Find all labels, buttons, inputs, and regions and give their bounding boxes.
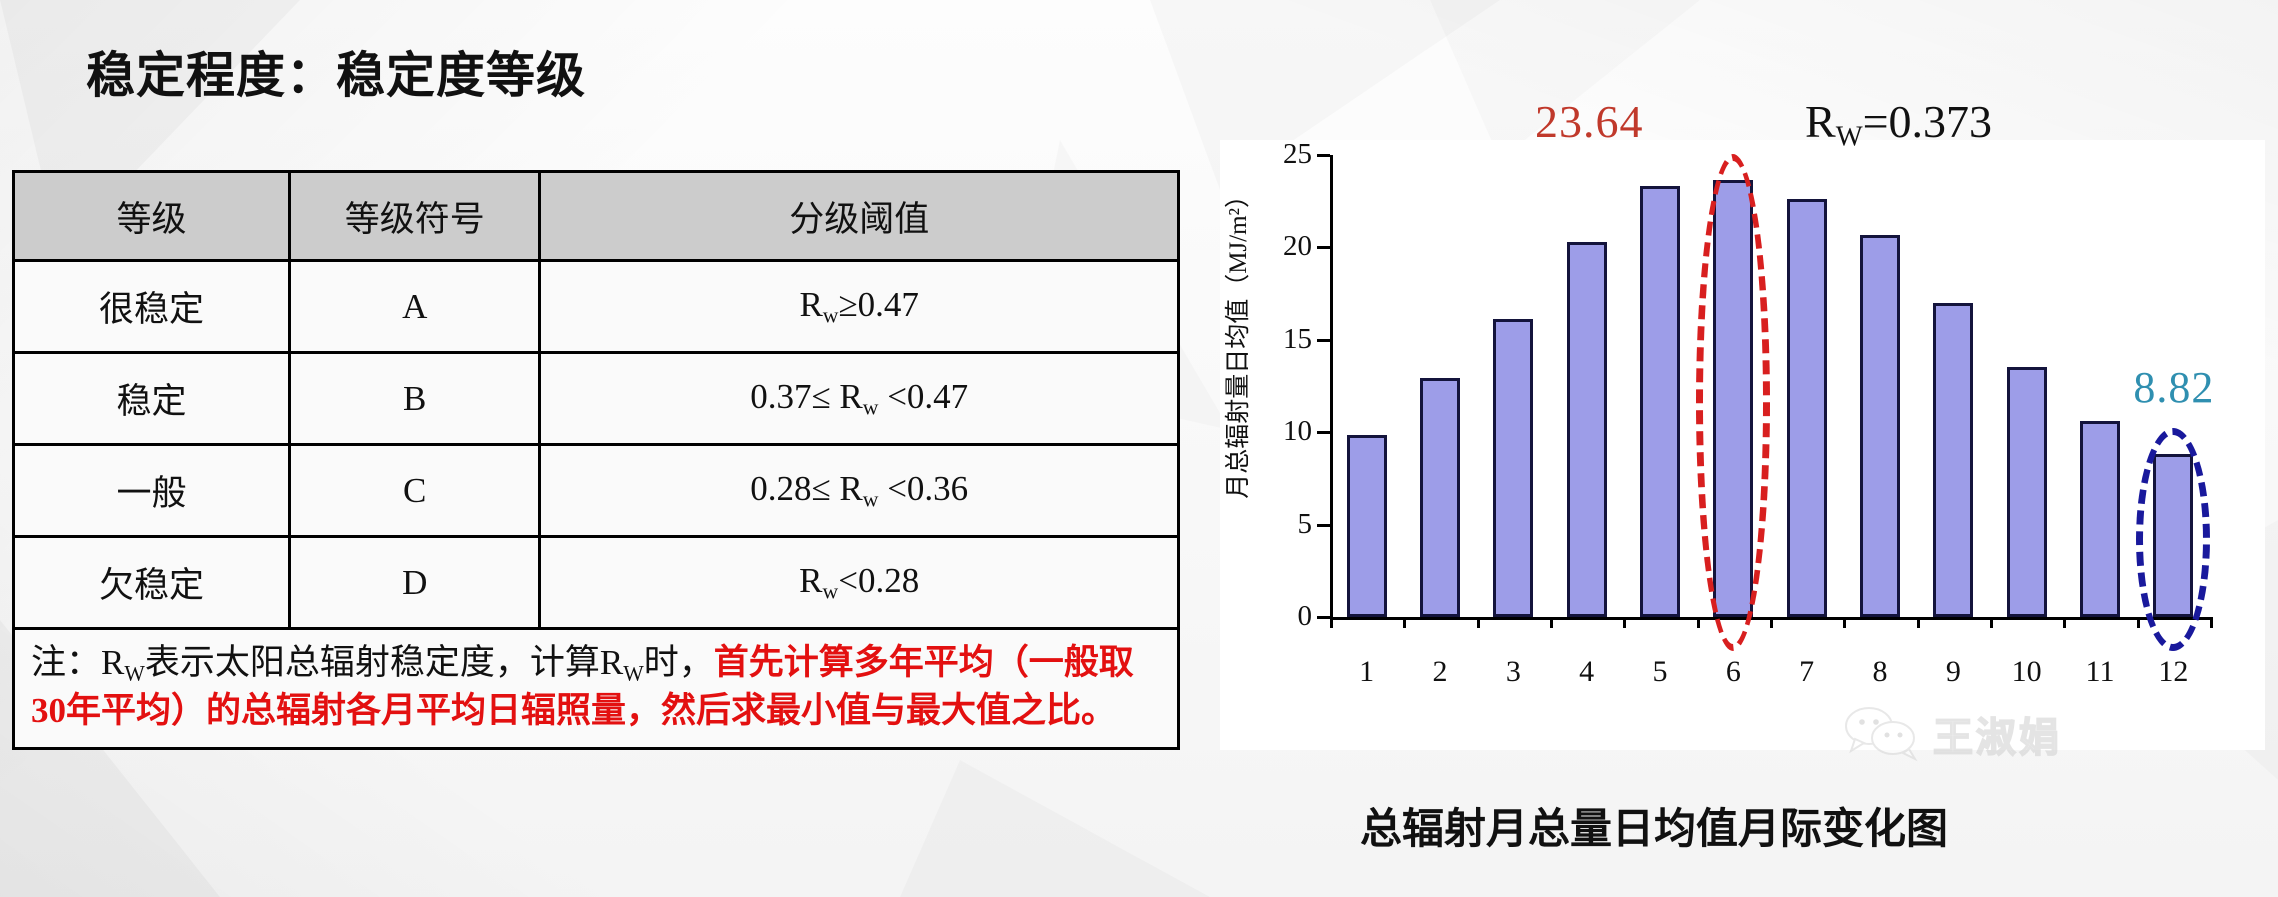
table-row: 稳定 B 0.37≤ Rw <0.47	[14, 353, 1179, 445]
x-tick-label: 1	[1359, 655, 1374, 689]
y-tick-label: 0	[1298, 600, 1313, 633]
threshold-prefix: 0.37≤	[750, 377, 839, 416]
threshold-prefix: 0.28≤	[750, 469, 839, 508]
table-note: 注：RW表示太阳总辐射稳定度，计算RW时，首先计算多年平均（一般取30年平均）的…	[14, 629, 1179, 749]
rw-subscript: w	[823, 303, 839, 327]
y-tick	[1317, 154, 1330, 157]
axis-area: 05101520251234567891011128.82	[1330, 155, 2210, 617]
blue-dashed-ellipse	[2136, 428, 2210, 651]
rw-subscript: w	[863, 395, 879, 419]
plot-wrapper: 月总辐射量日均值（MJ/m²） 051015202512345678910111…	[1220, 147, 2265, 747]
y-tick-label: 15	[1283, 323, 1312, 356]
table-row: 欠稳定 D Rw<0.28	[14, 537, 1179, 629]
x-tick	[2137, 617, 2140, 628]
bar	[1567, 242, 1607, 617]
table-header-row: 等级 等级符号 分级阈值	[14, 172, 1179, 261]
bar	[2007, 367, 2047, 617]
left-column: 稳定程度：稳定度等级 等级 等级符号 分级阈值 很稳定 A Rw≥0.47 稳定…	[0, 0, 1200, 897]
chart-panel: 23.64 RW=0.373 月总辐射量日均值（MJ/m²） 051015202…	[1205, 95, 2278, 895]
x-tick-label: 4	[1579, 655, 1594, 689]
cell-symbol: A	[290, 261, 540, 353]
note-black-3: 时，	[644, 643, 714, 682]
x-tick-label: 6	[1726, 655, 1741, 689]
cell-grade: 一般	[14, 445, 290, 537]
rw-annotation-prefix: R	[1805, 96, 1836, 147]
y-tick	[1317, 524, 1330, 527]
y-tick-label: 25	[1283, 138, 1312, 171]
x-tick	[1623, 617, 1626, 628]
bar	[1860, 235, 1900, 617]
x-tick-label: 11	[2086, 655, 2115, 689]
x-tick-label: 3	[1506, 655, 1521, 689]
rw-annotation-suffix: =0.373	[1863, 96, 1992, 147]
rw-subscript: w	[823, 579, 839, 603]
cell-threshold: 0.37≤ Rw <0.47	[540, 353, 1179, 445]
y-axis-line	[1330, 155, 1333, 617]
threshold-suffix: ≥0.47	[838, 285, 918, 324]
cell-grade: 稳定	[14, 353, 290, 445]
x-tick-label: 10	[2012, 655, 2042, 689]
rw-value-annotation: RW=0.373	[1805, 95, 1992, 154]
y-axis-title: 月总辐射量日均值（MJ/m²）	[1218, 0, 1254, 235]
stability-grade-table: 等级 等级符号 分级阈值 很稳定 A Rw≥0.47 稳定 B 0.37≤ Rw…	[12, 170, 1180, 750]
cell-threshold: Rw≥0.47	[540, 261, 1179, 353]
cell-symbol: C	[290, 445, 540, 537]
column-header-grade: 等级	[14, 172, 290, 261]
x-tick	[1330, 617, 1333, 628]
rw-subscript: w	[863, 487, 879, 511]
table-row: 很稳定 A Rw≥0.47	[14, 261, 1179, 353]
chart-caption: 总辐射月总量日均值月际变化图	[1360, 795, 1948, 856]
cell-symbol: D	[290, 537, 540, 629]
x-tick-label: 5	[1653, 655, 1668, 689]
x-tick-label: 2	[1433, 655, 1448, 689]
note-sub-1: W	[124, 662, 144, 686]
cell-threshold: 0.28≤ Rw <0.36	[540, 445, 1179, 537]
x-tick-label: 7	[1799, 655, 1814, 689]
x-tick	[1550, 617, 1553, 628]
bar	[1420, 378, 1460, 617]
bar	[1493, 319, 1533, 617]
rw-symbol: R	[799, 561, 822, 600]
page-title: 稳定程度：稳定度等级	[86, 36, 586, 107]
note-black-2: 表示太阳总辐射稳定度，计算R	[145, 643, 623, 682]
note-sub-2: W	[623, 662, 643, 686]
x-tick-label: 12	[2158, 655, 2188, 689]
x-tick	[1403, 617, 1406, 628]
red-dashed-ellipse	[1696, 154, 1770, 651]
threshold-suffix: <0.47	[878, 377, 968, 416]
threshold-suffix: <0.28	[838, 561, 919, 600]
x-tick-label: 9	[1946, 655, 1961, 689]
x-tick	[1990, 617, 1993, 628]
cell-grade: 欠稳定	[14, 537, 290, 629]
y-tick-label: 20	[1283, 230, 1312, 263]
peak-value-annotation: 23.64	[1535, 95, 1644, 148]
note-black-1: 注：R	[31, 643, 124, 682]
cell-grade: 很稳定	[14, 261, 290, 353]
bar	[2080, 421, 2120, 617]
x-tick	[2210, 617, 2213, 628]
y-tick	[1317, 431, 1330, 434]
y-axis-title-text: 月总辐射量日均值（MJ/m²）	[1218, 183, 1254, 499]
column-header-symbol: 等级符号	[290, 172, 540, 261]
bar	[1347, 435, 1387, 617]
x-tick	[1770, 617, 1773, 628]
min-value-annotation: 8.82	[2133, 362, 2214, 413]
rw-symbol: R	[799, 285, 822, 324]
x-tick-label: 8	[1873, 655, 1888, 689]
bar	[1787, 199, 1827, 617]
x-tick	[1697, 617, 1700, 628]
rw-symbol: R	[839, 469, 862, 508]
threshold-suffix: <0.36	[878, 469, 968, 508]
cell-threshold: Rw<0.28	[540, 537, 1179, 629]
y-tick	[1317, 616, 1330, 619]
bar	[1640, 186, 1680, 618]
column-header-threshold: 分级阈值	[540, 172, 1179, 261]
x-tick	[1917, 617, 1920, 628]
table-note-row: 注：RW表示太阳总辐射稳定度，计算RW时，首先计算多年平均（一般取30年平均）的…	[14, 629, 1179, 749]
y-tick	[1317, 339, 1330, 342]
y-tick	[1317, 246, 1330, 249]
table-row: 一般 C 0.28≤ Rw <0.36	[14, 445, 1179, 537]
x-tick	[1843, 617, 1846, 628]
x-tick	[1477, 617, 1480, 628]
x-tick	[2063, 617, 2066, 628]
cell-symbol: B	[290, 353, 540, 445]
bar	[1933, 303, 1973, 617]
y-tick-label: 10	[1283, 415, 1312, 448]
y-tick-label: 5	[1298, 507, 1313, 540]
rw-symbol: R	[839, 377, 862, 416]
